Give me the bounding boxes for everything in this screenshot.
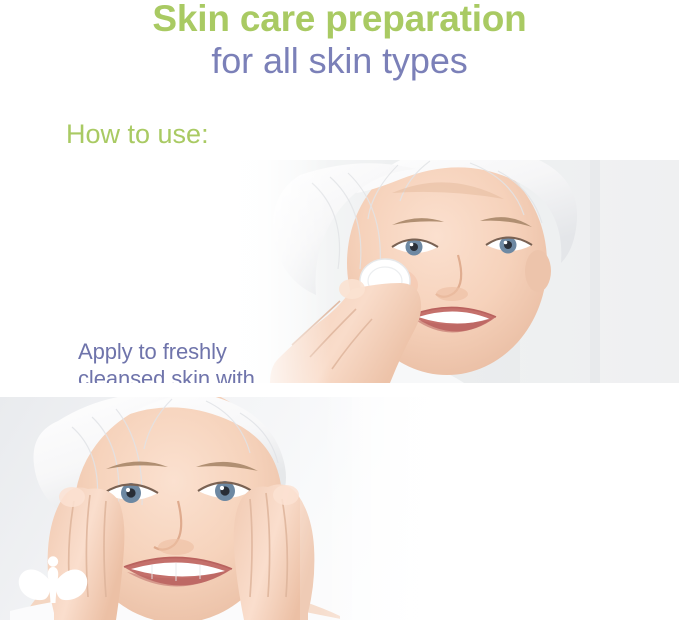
step-2-band: STEP 2 Allow the product to dry without … [0,397,679,620]
header: Skin care preparation for all skin types… [0,0,679,160]
step-2-photo [0,397,679,620]
butterfly-leaf-logo [18,553,88,609]
infographic-page: Skin care preparation for all skin types… [0,0,679,620]
step-1-body-text: Apply to freshly cleansed skin with a co… [78,339,308,383]
band-separator [0,383,679,397]
page-title-line2: for all skin types [0,40,679,82]
how-to-use-heading: How to use: [66,119,209,150]
step-1-band: STEP 1 Apply to freshly cleansed skin wi… [0,159,679,383]
page-title-line1: Skin care preparation [0,0,679,40]
